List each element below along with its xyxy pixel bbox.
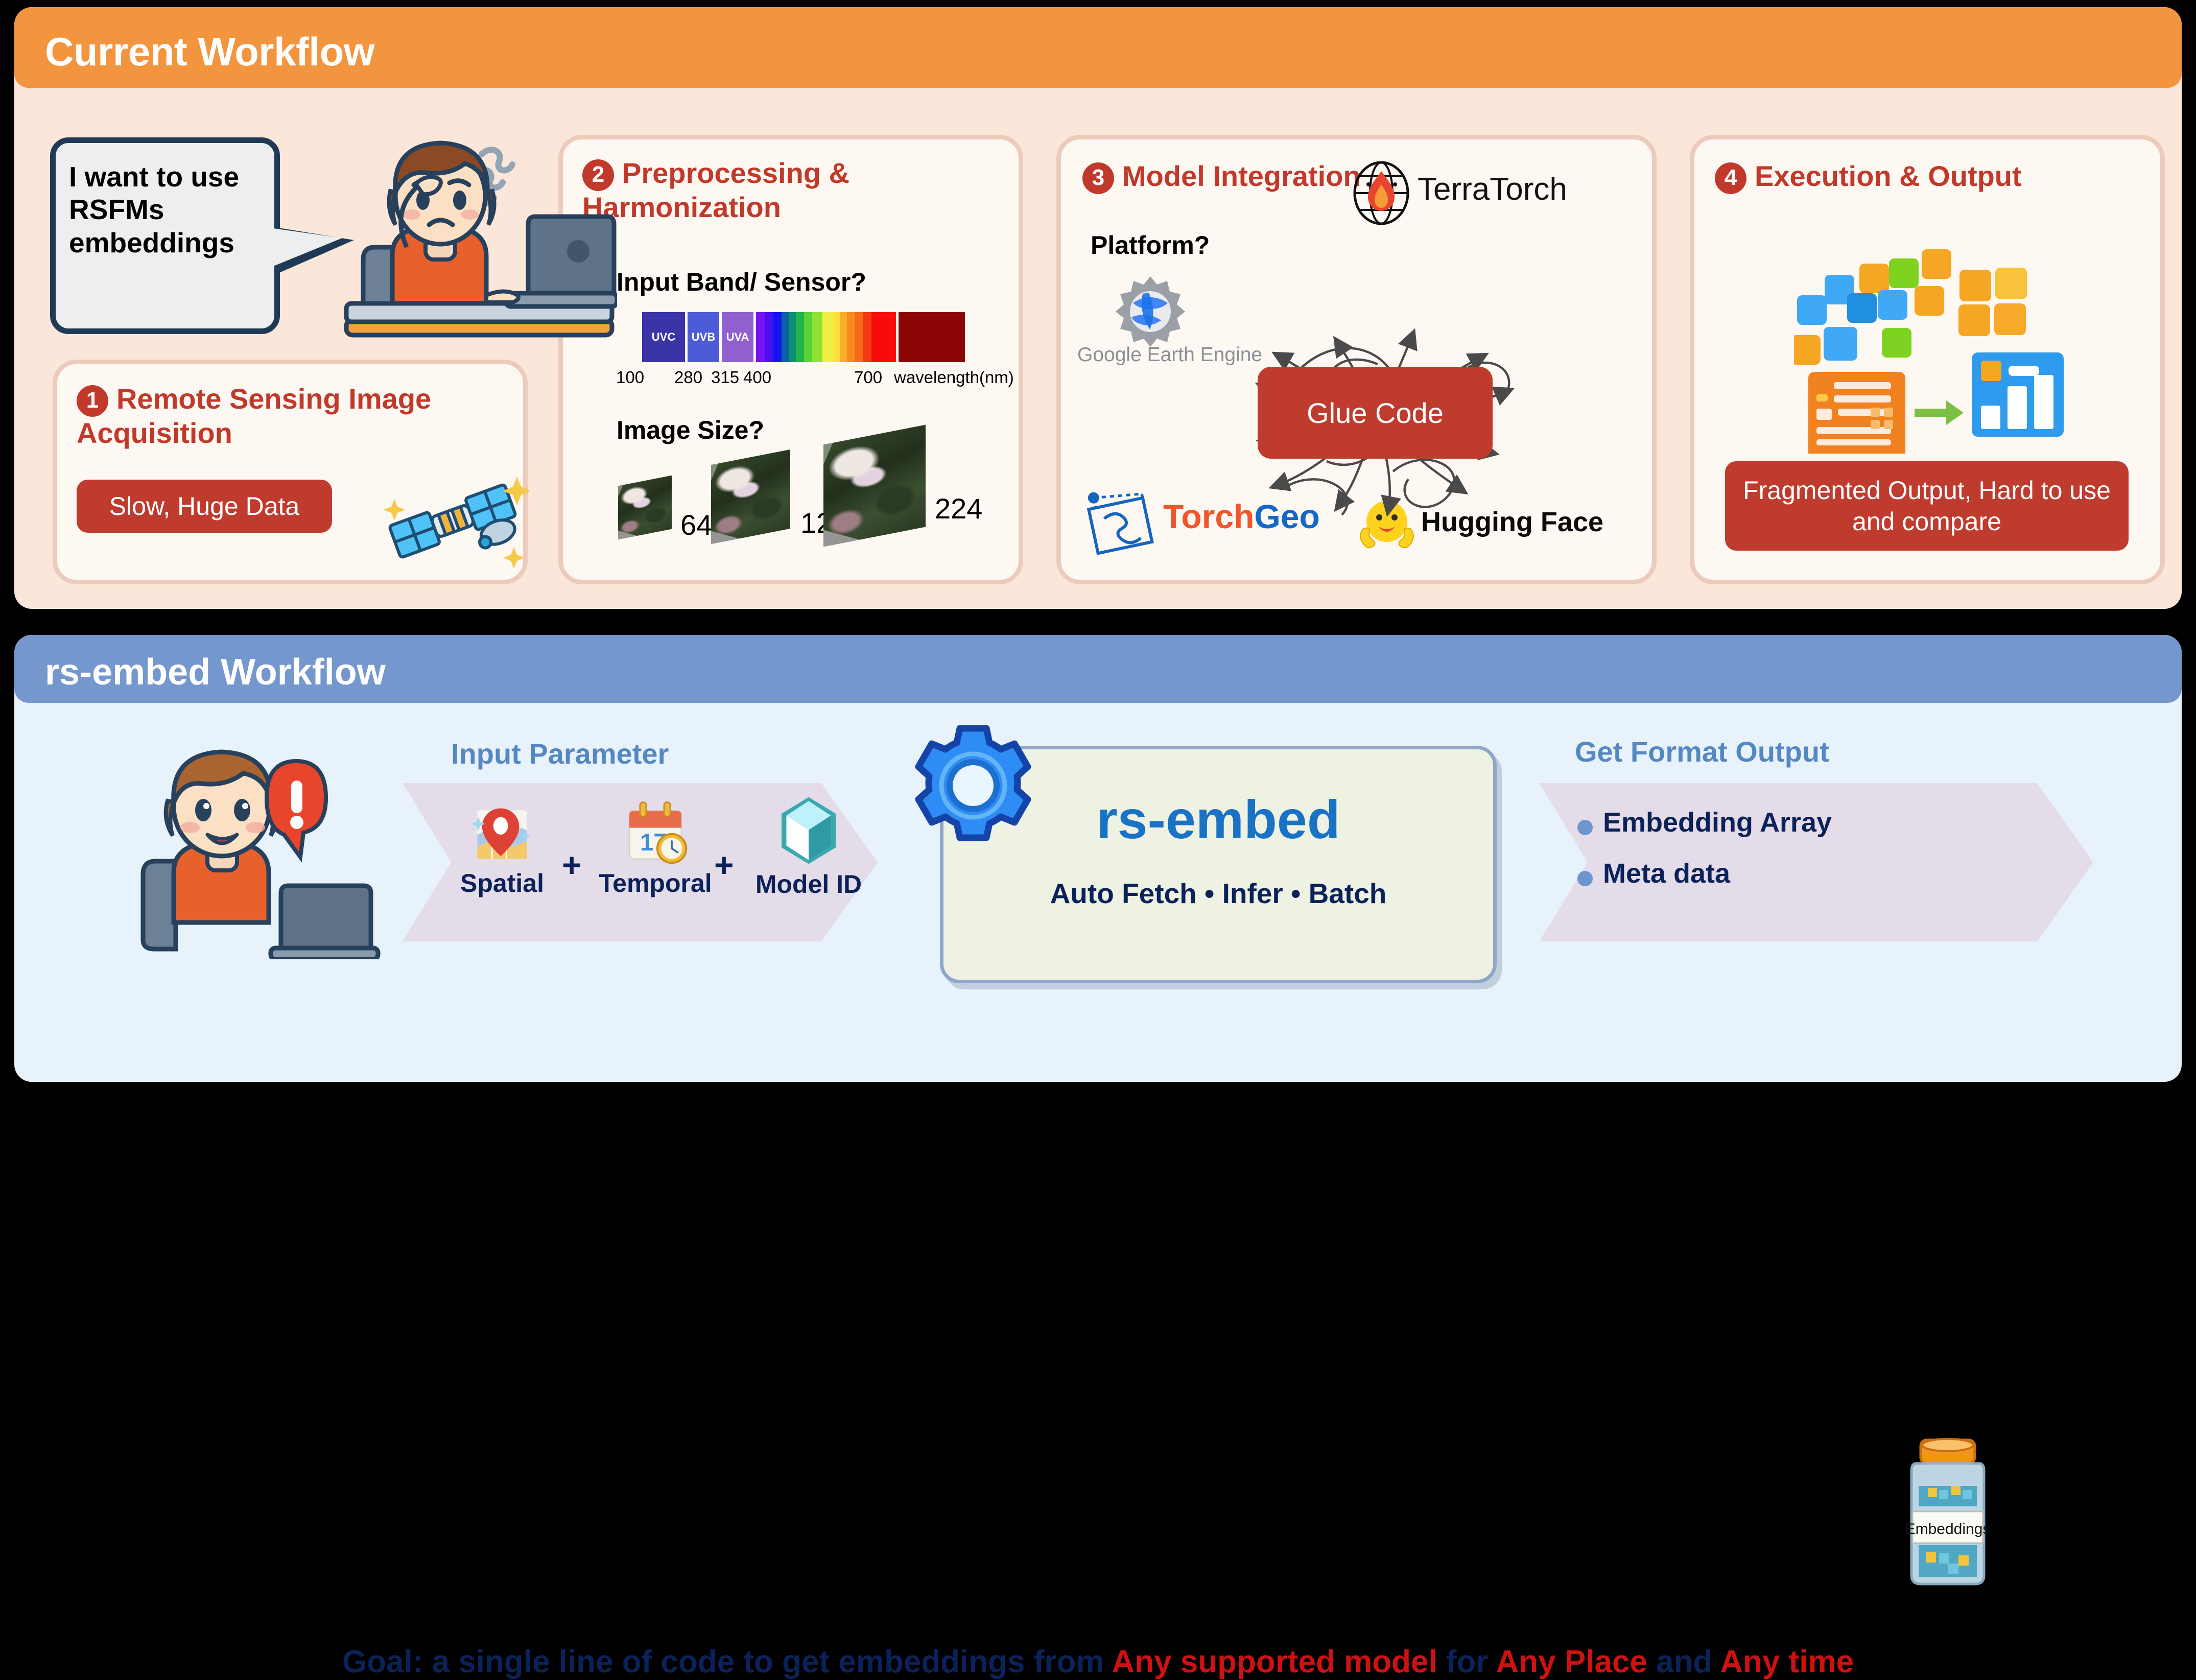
output-bullet-dot-1 bbox=[1577, 820, 1593, 835]
satellite-thumbnail-128 bbox=[711, 449, 790, 544]
goal-red-3: Any time bbox=[1720, 1644, 1854, 1679]
param-model-id-label: Model ID bbox=[740, 869, 878, 899]
spectrum-visible-14 bbox=[863, 312, 871, 362]
image-size-label-224: 224 bbox=[935, 492, 982, 525]
goal-red-2: Any Place bbox=[1496, 1644, 1647, 1679]
spectrum-tick-700: 700 bbox=[854, 368, 882, 387]
spectrum-visible-9 bbox=[822, 312, 833, 362]
torchgeo-icon bbox=[1081, 482, 1158, 558]
card4-number-badge: 4 bbox=[1715, 162, 1746, 194]
spectrum-visible-8 bbox=[812, 312, 822, 362]
wavelength-spectrum-bar: UVC UVB UVA bbox=[642, 312, 965, 362]
cube-icon bbox=[773, 794, 844, 867]
spectrum-tick-100: 100 bbox=[616, 368, 644, 387]
happy-developer-illustration bbox=[65, 729, 382, 959]
card3-number-badge: 3 bbox=[1082, 162, 1114, 194]
plus-sign-2: + bbox=[714, 845, 734, 884]
spectrum-visible-12 bbox=[847, 312, 855, 362]
card3-title-row: 3Model Integration bbox=[1082, 160, 1361, 194]
goal-red-1: Any supported model bbox=[1112, 1644, 1437, 1679]
card4-title-text: Execution & Output bbox=[1755, 160, 2022, 192]
map-pin-icon bbox=[470, 802, 534, 866]
speech-bubble-text: I want to use RSFMs embeddings bbox=[69, 160, 273, 259]
terratorch-icon bbox=[1352, 160, 1411, 226]
spectrum-visible-7 bbox=[804, 312, 812, 362]
spectrum-visible-1 bbox=[756, 312, 765, 362]
spectrum-tick-315: 315 bbox=[711, 368, 739, 387]
input-band-question: Input Band/ Sensor? bbox=[617, 267, 866, 297]
spectrum-visible-13 bbox=[855, 312, 863, 362]
plus-sign-1: + bbox=[562, 845, 582, 884]
spectrum-tick-280: 280 bbox=[674, 368, 702, 387]
spectrum-axis-label: wavelength(nm) bbox=[894, 368, 1014, 387]
current-workflow-title: Current Workflow bbox=[45, 29, 374, 75]
card-preprocessing-harmonization: 2Preprocessing & Harmonization Input Ban… bbox=[558, 135, 1023, 584]
param-spatial: Spatial bbox=[454, 802, 551, 898]
spectrum-visible-10 bbox=[833, 312, 840, 362]
spectrum-visible-3 bbox=[773, 312, 782, 362]
card1-status-pill: Slow, Huge Data bbox=[77, 480, 332, 533]
image-size-label-64: 64 bbox=[680, 508, 712, 541]
spectrum-visible-11 bbox=[840, 312, 847, 362]
spectrum-visible-2 bbox=[765, 312, 773, 362]
speech-bubble: I want to use RSFMs embeddings bbox=[50, 137, 280, 334]
jar-label: Embeddings bbox=[1905, 1521, 1991, 1537]
embeddings-jar-icon: Embeddings bbox=[1894, 1437, 2001, 1590]
satellite-icon bbox=[376, 457, 529, 585]
satellite-thumbnail-224 bbox=[823, 425, 926, 547]
param-temporal-label: Temporal bbox=[592, 868, 719, 898]
param-spatial-label: Spatial bbox=[454, 868, 551, 898]
spectrum-segment-uvb: UVB bbox=[688, 312, 719, 362]
card-model-integration: 3Model Integration Platform? bbox=[1056, 135, 1657, 584]
card4-title-row: 4Execution & Output bbox=[1715, 160, 2022, 194]
spectrum-visible-15 bbox=[871, 312, 896, 362]
card-execution-output: 4Execution & Output bbox=[1690, 135, 2165, 584]
goal-mid-1: for bbox=[1437, 1644, 1496, 1679]
input-parameter-title: Input Parameter bbox=[451, 737, 669, 770]
card-remote-sensing-acquisition: 1Remote Sensing Image Acquisition Slow, … bbox=[53, 360, 528, 584]
card1-title-row: 1Remote Sensing Image Acquisition bbox=[77, 383, 434, 450]
goal-prefix: Goal: a single line of code to get embed… bbox=[342, 1644, 1112, 1679]
card2-title-row: 2Preprocessing & Harmonization bbox=[582, 157, 986, 224]
output-item-meta-data: Meta data bbox=[1603, 858, 1730, 889]
output-band-title: Get Format Output bbox=[1575, 735, 1829, 768]
current-workflow-panel: Current Workflow I want to use RSFMs emb… bbox=[14, 7, 2182, 609]
spectrum-visible-5 bbox=[789, 312, 796, 362]
card1-title-text: Remote Sensing Image Acquisition bbox=[77, 383, 431, 449]
gear-icon bbox=[912, 724, 1034, 847]
current-workflow-header: Current Workflow bbox=[14, 7, 2182, 88]
spectrum-segment-uva: UVA bbox=[722, 312, 753, 362]
spectrum-segment-uvc: UVC bbox=[642, 312, 685, 362]
rs-embed-subtitle: Auto Fetch • Infer • Batch bbox=[943, 877, 1493, 910]
platform-question: Platform? bbox=[1091, 230, 1210, 260]
card2-title-text: Preprocessing & Harmonization bbox=[582, 157, 849, 223]
card1-number-badge: 1 bbox=[77, 385, 108, 417]
terratorch-label: TerraTorch bbox=[1418, 171, 1567, 207]
google-earth-engine-icon bbox=[1112, 273, 1189, 350]
speech-bubble-tail-fill bbox=[270, 228, 342, 268]
image-size-question: Image Size? bbox=[617, 415, 764, 445]
glue-code-box: Glue Code bbox=[1258, 367, 1493, 459]
spectrum-tick-400: 400 bbox=[743, 368, 771, 387]
spectrum-visible-6 bbox=[796, 312, 804, 362]
param-temporal: 17 Temporal bbox=[592, 798, 719, 898]
fragmented-output-icon bbox=[1794, 219, 2080, 454]
spectrum-visible-4 bbox=[782, 312, 789, 362]
calendar-clock-icon: 17 bbox=[622, 798, 689, 866]
rs-embed-workflow-title: rs-embed Workflow bbox=[45, 651, 386, 693]
output-bullet-dot-2 bbox=[1577, 871, 1593, 886]
satellite-thumbnail-64 bbox=[618, 476, 672, 539]
card3-title-text: Model Integration bbox=[1122, 160, 1361, 192]
spectrum-segment-infrared bbox=[899, 312, 965, 362]
rs-embed-workflow-header: rs-embed Workflow bbox=[14, 635, 2182, 703]
output-item-embedding-array: Embedding Array bbox=[1603, 807, 1832, 838]
card4-status-pill: Fragmented Output, Hard to use and compa… bbox=[1725, 461, 2129, 551]
goal-mid-2: and bbox=[1647, 1644, 1720, 1679]
goal-statement: Goal: a single line of code to get embed… bbox=[14, 1644, 2182, 1680]
param-model-id: Model ID bbox=[740, 794, 878, 899]
